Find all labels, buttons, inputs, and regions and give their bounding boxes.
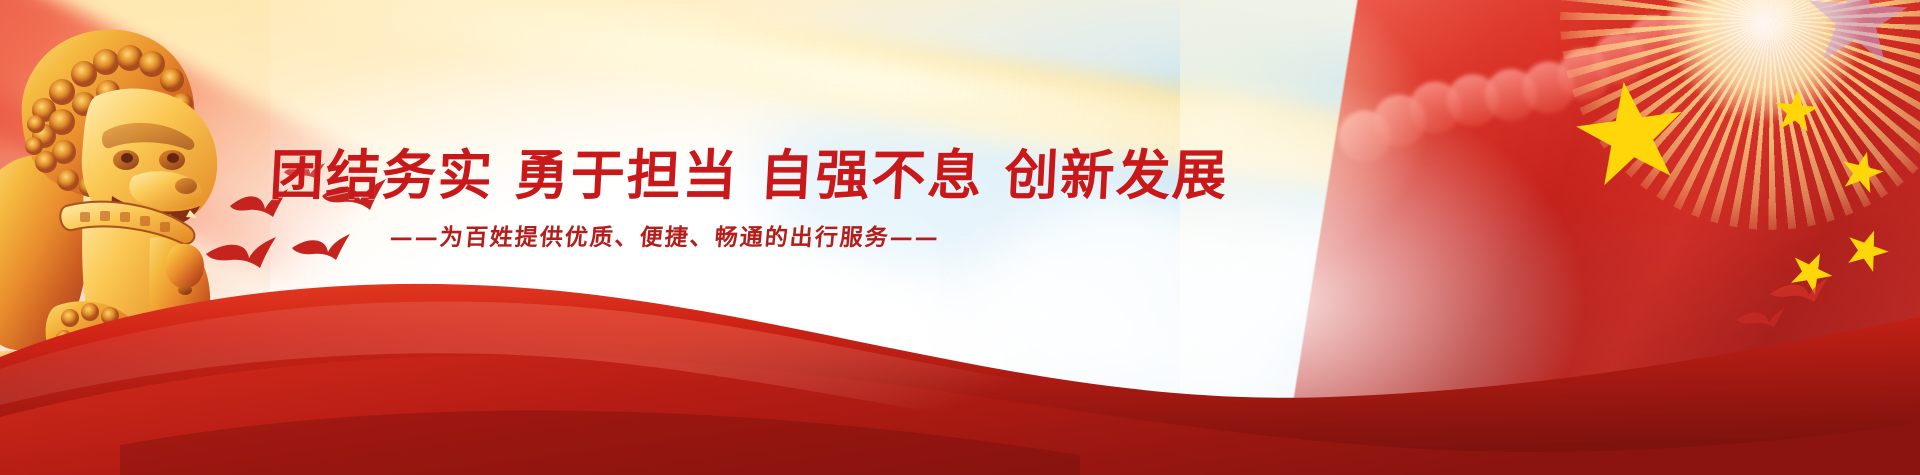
slogan-subtitle: ——为百姓提供优质、便捷、畅通的出行服务—— (269, 218, 1062, 252)
red-silk-wave (0, 265, 1920, 475)
banner-root: 团结务实 勇于担当 自强不息 创新发展 ——为百姓提供优质、便捷、畅通的出行服务… (0, 0, 1920, 475)
slogan-text-block: 团结务实 勇于担当 自强不息 创新发展 ——为百姓提供优质、便捷、畅通的出行服务… (270, 146, 1060, 271)
main-slogan: 团结务实 勇于担当 自强不息 创新发展 (268, 146, 1061, 204)
